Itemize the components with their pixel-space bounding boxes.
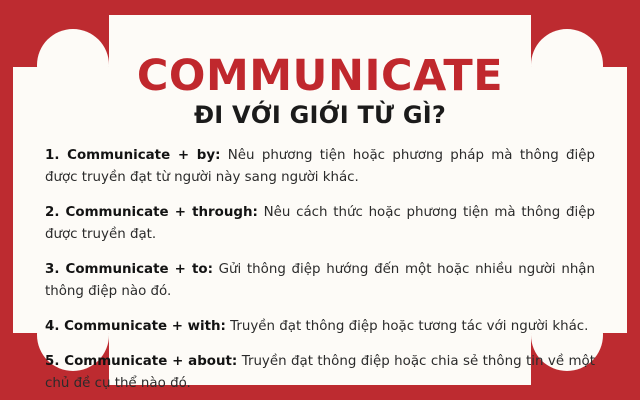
list-item: 1. Communicate + by: Nêu phương tiện hoặ… xyxy=(45,145,595,188)
poster-frame: COMMUNICATE ĐI VỚI GIỚI TỪ GÌ? 1. Commun… xyxy=(0,0,640,400)
list-item-lead: 2. Communicate + through: xyxy=(45,205,258,220)
list-item-lead: 1. Communicate + by: xyxy=(45,148,220,163)
page-subtitle: ĐI VỚI GIỚI TỪ GÌ? xyxy=(43,102,597,128)
list-item: 2. Communicate + through: Nêu cách thức … xyxy=(45,202,595,245)
poster-card: COMMUNICATE ĐI VỚI GIỚI TỪ GÌ? 1. Commun… xyxy=(13,15,627,385)
page-title: COMMUNICATE xyxy=(43,55,597,98)
list-item-body: Truyền đạt thông điệp hoặc tương tác với… xyxy=(226,319,589,334)
preposition-list: 1. Communicate + by: Nêu phương tiện hoặ… xyxy=(43,145,597,394)
list-item: 4. Communicate + with: Truyền đạt thông … xyxy=(45,316,595,338)
title-block: COMMUNICATE ĐI VỚI GIỚI TỪ GÌ? xyxy=(43,15,597,128)
list-item: 5. Communicate + about: Truyền đạt thông… xyxy=(45,351,595,394)
list-item-lead: 5. Communicate + about: xyxy=(45,354,237,369)
list-item-lead: 4. Communicate + with: xyxy=(45,319,226,334)
list-item: 3. Communicate + to: Gửi thông điệp hướn… xyxy=(45,259,595,302)
poster-content: COMMUNICATE ĐI VỚI GIỚI TỪ GÌ? 1. Commun… xyxy=(13,15,627,385)
list-item-lead: 3. Communicate + to: xyxy=(45,262,213,277)
